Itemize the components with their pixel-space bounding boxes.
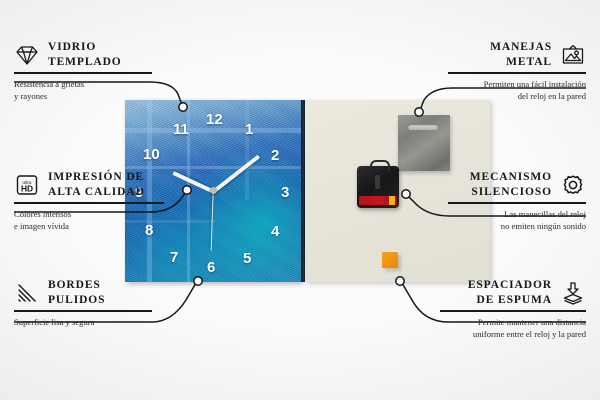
svg-text:HD: HD xyxy=(21,183,33,193)
divider xyxy=(448,202,586,204)
wall-frame-icon xyxy=(560,43,586,67)
foam-spacer-icon xyxy=(560,281,586,305)
mechanism-shaft xyxy=(375,175,380,189)
feature-title-line1: MANEJAS xyxy=(490,41,552,53)
divider xyxy=(14,310,152,312)
feature-desc-line1: Permiten una fácil instalación xyxy=(484,79,586,89)
feature-title-line2: METAL xyxy=(506,56,552,68)
clock-numeral-6: 6 xyxy=(207,260,215,275)
clock-mechanism xyxy=(357,166,399,208)
clock-numeral-1: 1 xyxy=(245,122,253,137)
clock-numeral-7: 7 xyxy=(170,250,178,265)
feature-desc-line1: Permite mantener una distancia xyxy=(478,317,586,327)
feature-desc-line2: uniforme entre el reloj y la pared xyxy=(473,329,586,339)
divider xyxy=(14,202,164,204)
hanger-slot xyxy=(408,124,438,130)
feature-title-line1: MECANISMO xyxy=(470,171,552,183)
feature-desc-line2: e imagen vívida xyxy=(14,221,69,231)
divider xyxy=(14,72,152,74)
feature-title-line1: VIDRIO xyxy=(48,41,96,53)
clock-numeral-4: 4 xyxy=(271,224,279,239)
product-photo: 12 1 2 3 4 5 6 7 8 9 10 11 xyxy=(125,100,490,282)
clock-numeral-2: 2 xyxy=(271,148,279,163)
mechanism-battery-label xyxy=(359,196,397,205)
feature-title-line2: SILENCIOSO xyxy=(471,186,552,198)
clock-numeral-12: 12 xyxy=(206,112,223,127)
clock-numeral-3: 3 xyxy=(281,185,289,200)
feature-desc-line1: Superficie lisa y segura xyxy=(14,317,94,327)
feature-desc-line1: Resistencia a grietas xyxy=(14,79,84,89)
feature-desc-line2: no emiten ningún sonido xyxy=(501,221,586,231)
feature-impresion-alta-calidad: ultra HD IMPRESIÓN DE ALTA CALIDAD Color… xyxy=(14,170,164,233)
infographic-canvas: 12 1 2 3 4 5 6 7 8 9 10 11 xyxy=(0,0,600,400)
gear-icon xyxy=(560,173,586,197)
clock-numeral-10: 10 xyxy=(143,147,160,162)
feature-title-line1: ESPACIADOR xyxy=(468,279,552,291)
feature-desc-line1: Las manecillas del reloj xyxy=(504,209,586,219)
clock-center-cap xyxy=(210,187,217,194)
clock-numeral-5: 5 xyxy=(243,251,251,266)
divider xyxy=(448,72,586,74)
foam-spacer-pad xyxy=(382,252,398,268)
metal-hanger-plate xyxy=(398,115,450,171)
polished-edge-icon xyxy=(14,281,40,305)
feature-desc-line1: Colores intensos xyxy=(14,209,71,219)
feature-desc-line2: y rayones xyxy=(14,91,47,101)
mechanism-hook xyxy=(370,160,390,171)
feature-title-line2: TEMPLADO xyxy=(48,56,122,68)
feature-espaciador-espuma: ESPACIADOR DE ESPUMA Permite mantener un… xyxy=(440,278,586,341)
feature-title-line1: BORDES xyxy=(48,279,101,291)
feature-title-line1: IMPRESIÓN DE xyxy=(48,171,144,183)
feature-bordes-pulidos: BORDES PULIDOS Superficie lisa y segura xyxy=(14,278,152,328)
feature-title-line2: ALTA CALIDAD xyxy=(48,186,145,198)
ultra-hd-icon: ultra HD xyxy=(14,173,40,197)
feature-mecanismo-silencioso: MECANISMO SILENCIOSO Las manecillas del … xyxy=(448,170,586,233)
diamond-icon xyxy=(14,43,40,67)
feature-manejas-metal: MANEJAS METAL Permiten una fácil instala… xyxy=(448,40,586,103)
feature-vidrio-templado: VIDRIO TEMPLADO Resistencia a grietas y … xyxy=(14,40,152,103)
divider xyxy=(440,310,586,312)
feature-desc-line2: del reloj en la pared xyxy=(518,91,586,101)
clock-numeral-11: 11 xyxy=(173,122,189,137)
feature-title-line2: DE ESPUMA xyxy=(476,294,552,306)
feature-title-line2: PULIDOS xyxy=(48,294,105,306)
